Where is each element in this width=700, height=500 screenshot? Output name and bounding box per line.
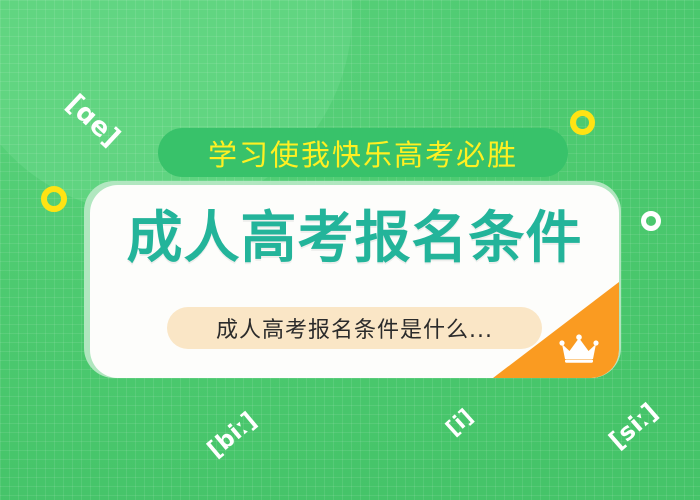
ring-yellow-left bbox=[41, 186, 67, 212]
banner-text: 学习使我快乐高考必胜 bbox=[208, 132, 518, 174]
crown-icon bbox=[559, 334, 599, 364]
ring-yellow-topright bbox=[570, 110, 595, 135]
subtitle-text: 成人高考报名条件是什么... bbox=[216, 312, 493, 344]
main-card: 成人高考报名条件 成人高考报名条件是什么... bbox=[90, 185, 619, 378]
poster-canvas: [ɑe] [biː] [i] [siː] 学习使我快乐高考必胜 成人高考报名条件… bbox=[0, 0, 700, 500]
ring-white-right bbox=[641, 211, 661, 231]
card-clip: 成人高考报名条件 成人高考报名条件是什么... bbox=[90, 185, 619, 378]
page-title: 成人高考报名条件 bbox=[90, 211, 619, 267]
banner-pill: 学习使我快乐高考必胜 bbox=[158, 128, 568, 177]
subtitle-pill: 成人高考报名条件是什么... bbox=[167, 307, 542, 349]
